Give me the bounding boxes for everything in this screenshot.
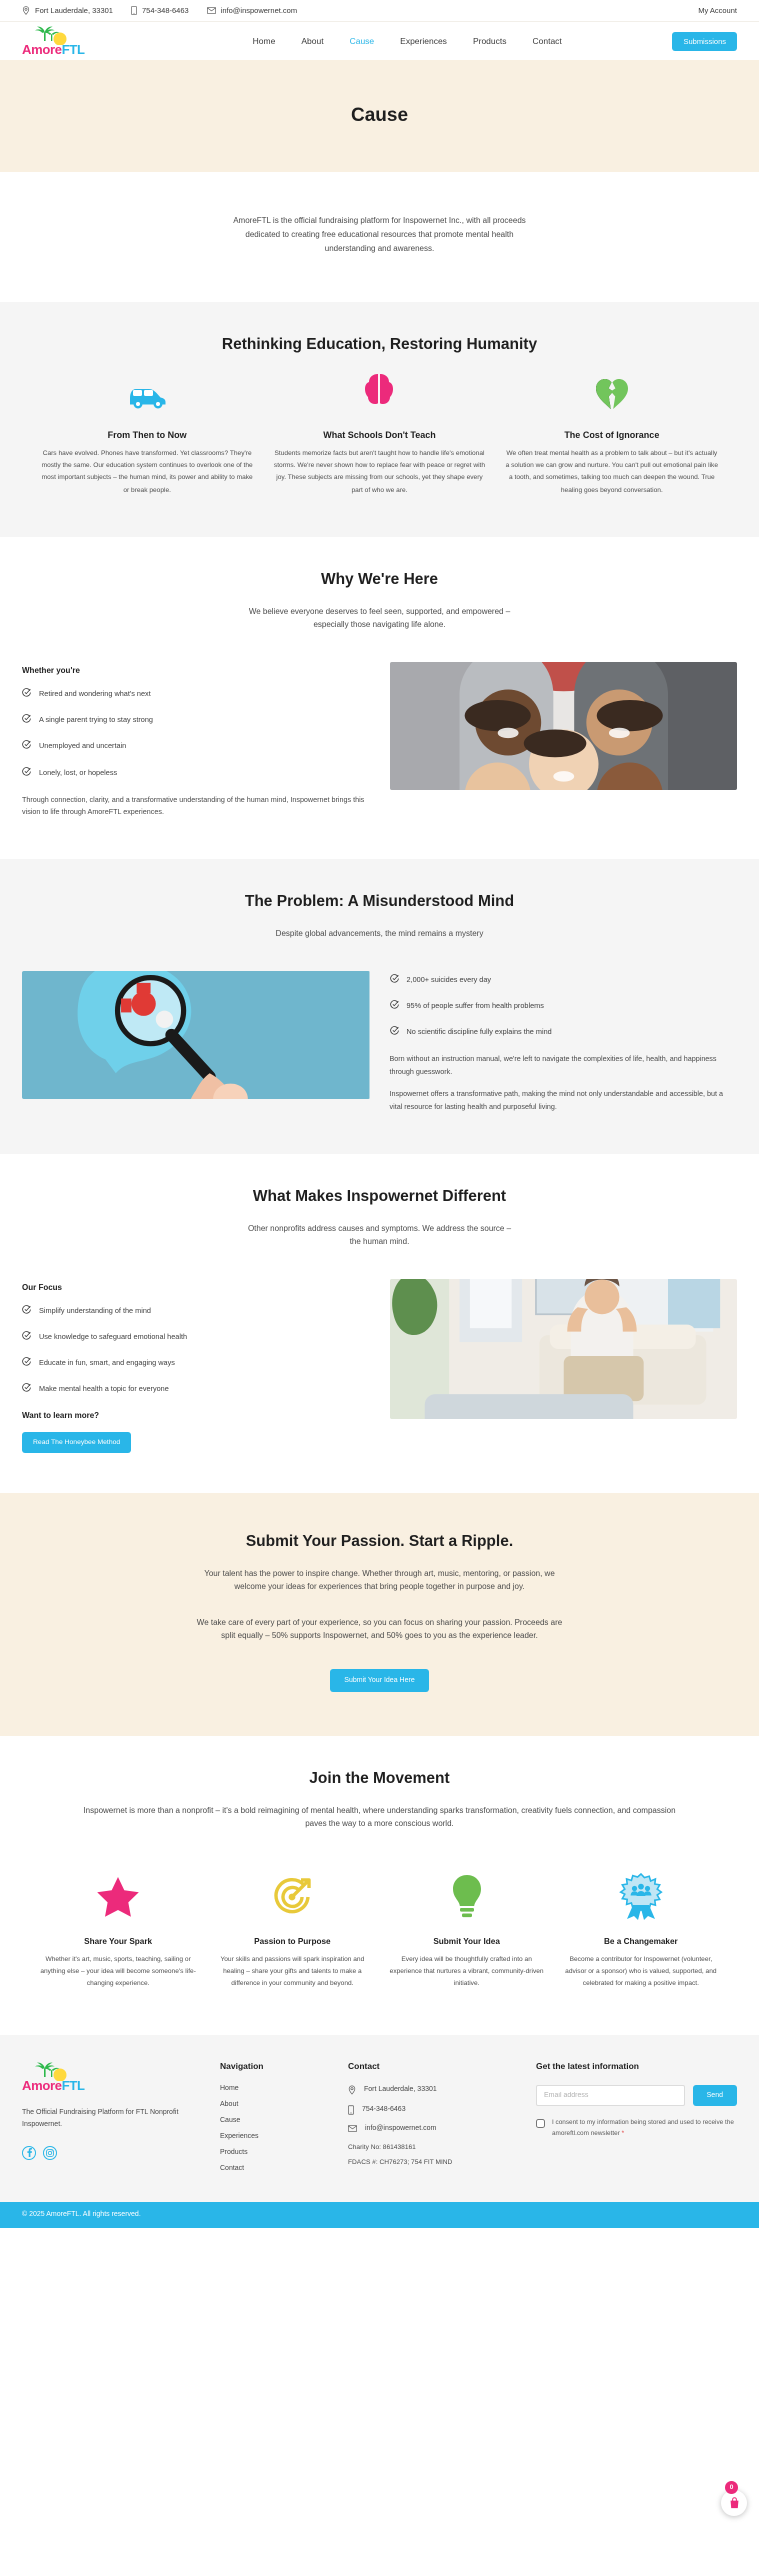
topbar-email[interactable]: info@inspowernet.com	[207, 6, 297, 15]
envelope-icon	[348, 2125, 357, 2132]
list-item: Use knowledge to safeguard emotional hea…	[22, 1332, 370, 1342]
list-item-label: Make mental health a topic for everyone	[39, 1384, 169, 1394]
check-circle-icon	[22, 740, 31, 749]
read-honeybee-method-button[interactable]: Read The Honeybee Method	[22, 1432, 131, 1453]
rethinking-title: Rethinking Education, Restoring Humanity	[22, 336, 737, 354]
instagram-icon[interactable]	[43, 2146, 57, 2160]
footer-logo[interactable]: AmoreFTL	[22, 2061, 142, 2093]
card-title: Passion to Purpose	[212, 1937, 372, 1946]
shopping-bag-icon	[729, 2497, 740, 2509]
footer-fdacs: FDACS #: CH76273; 754 FIT MIND	[348, 2157, 518, 2168]
site-footer: AmoreFTL The Official Fundraising Platfo…	[0, 2035, 759, 2202]
submit-your-idea-button[interactable]: Submit Your Idea Here	[330, 1669, 428, 1692]
why-subhead: Whether you're	[22, 666, 370, 675]
problem-lead: Despite global advancements, the mind re…	[80, 927, 680, 941]
footer-newsletter-column: Get the latest information Send I consen…	[536, 2061, 737, 2172]
phone-icon	[348, 2105, 354, 2115]
footer-email-text: info@inspowernet.com	[365, 2125, 436, 2132]
location-pin-icon	[348, 2085, 356, 2095]
list-item: Retired and wondering what's next	[22, 689, 370, 699]
footer-link-products[interactable]: Products	[220, 2149, 330, 2156]
man-on-sofa-photo	[390, 1279, 738, 1419]
footer-link-about[interactable]: About	[220, 2101, 330, 2108]
check-circle-icon	[22, 714, 31, 723]
passion-section: Submit Your Passion. Start a Ripple. You…	[0, 1493, 759, 1736]
list-item: Simplify understanding of the mind	[22, 1306, 370, 1316]
topbar-location: Fort Lauderdale, 33301	[22, 6, 113, 15]
check-circle-icon	[22, 1383, 31, 1392]
consent-checkbox[interactable]	[536, 2119, 545, 2128]
our-focus-subhead: Our Focus	[22, 1283, 370, 1292]
broken-heart-icon	[505, 370, 719, 416]
list-item-label: Unemployed and uncertain	[39, 741, 126, 751]
location-pin-icon	[22, 6, 30, 15]
list-item: A single parent trying to stay strong	[22, 715, 370, 725]
cart-fab-button[interactable]: 0	[721, 2490, 747, 2516]
list-item: Make mental health a topic for everyone	[22, 1384, 370, 1394]
nav-item-home[interactable]: Home	[253, 36, 276, 46]
problem-text-column: 2,000+ suicides every day 95% of people …	[390, 971, 738, 1114]
nav-item-cause[interactable]: Cause	[350, 36, 375, 46]
problem-stats-list: 2,000+ suicides every day 95% of people …	[390, 975, 738, 1038]
site-logo[interactable]: AmoreFTL	[22, 25, 142, 57]
check-circle-icon	[390, 974, 399, 983]
footer-link-experiences[interactable]: Experiences	[220, 2133, 330, 2140]
footer-contact-title: Contact	[348, 2061, 518, 2071]
card-title: The Cost of Ignorance	[505, 430, 719, 440]
page-title: Cause	[351, 105, 408, 127]
footer-phone-text: 754-348-6463	[362, 2106, 406, 2113]
check-circle-icon	[22, 688, 31, 697]
submissions-button[interactable]: Submissions	[672, 32, 737, 51]
list-item: 2,000+ suicides every day	[390, 975, 738, 985]
different-text-column: Our Focus Simplify understanding of the …	[22, 1279, 370, 1453]
footer-nav-links: Home About Cause Experiences Products Co…	[220, 2085, 330, 2172]
card-passion-to-purpose: Passion to Purpose Your skills and passi…	[212, 1871, 372, 1991]
footer-charity-no: Charity No: 861438161	[348, 2142, 518, 2153]
friends-circle-photo	[390, 662, 738, 790]
footer-newsletter-title: Get the latest information	[536, 2061, 737, 2071]
consent-row: I consent to my information being stored…	[536, 2118, 737, 2140]
list-item: No scientific discipline fully explains …	[390, 1027, 738, 1037]
problem-split: 2,000+ suicides every day 95% of people …	[22, 971, 737, 1114]
footer-location: Fort Lauderdale, 33301	[348, 2085, 518, 2095]
different-section: What Makes Inspowernet Different Other n…	[0, 1154, 759, 1493]
why-section: Why We're Here We believe everyone deser…	[0, 537, 759, 859]
different-split: Our Focus Simplify understanding of the …	[22, 1279, 737, 1453]
required-mark: *	[622, 2130, 625, 2137]
phone-icon	[131, 6, 137, 15]
topbar-phone[interactable]: 754-348-6463	[131, 6, 189, 15]
check-circle-icon	[390, 1000, 399, 1009]
footer-nav-title: Navigation	[220, 2061, 330, 2071]
send-button[interactable]: Send	[693, 2085, 737, 2106]
palm-tree-sun-logo-icon	[22, 25, 78, 45]
lightbulb-icon	[387, 1871, 547, 1923]
card-share-your-spark: Share Your Spark Whether it's art, music…	[38, 1871, 198, 1991]
why-image-column	[390, 662, 738, 790]
card-body: Cars have evolved. Phones have transform…	[40, 448, 254, 497]
envelope-icon	[207, 7, 216, 14]
topbar-location-text: Fort Lauderdale, 33301	[35, 6, 113, 15]
star-icon	[38, 1871, 198, 1923]
footer-contact-column: Contact Fort Lauderdale, 33301 754-348-6…	[348, 2061, 518, 2172]
palm-tree-sun-logo-icon	[22, 2061, 78, 2081]
footer-link-home[interactable]: Home	[220, 2085, 330, 2092]
problem-paragraph-2: Inspowernet offers a transformative path…	[390, 1088, 738, 1113]
intro-paragraph: AmoreFTL is the official fundraising pla…	[230, 214, 530, 256]
problem-paragraph-1: Born without an instruction manual, we'r…	[390, 1053, 738, 1078]
why-split: Whether you're Retired and wondering wha…	[22, 662, 737, 819]
card-body: Become a contributor for Inspowernet (vo…	[561, 1954, 721, 1991]
card-body: Every idea will be thoughtfully crafted …	[387, 1954, 547, 1991]
list-item: Lonely, lost, or hopeless	[22, 768, 370, 778]
card-title: Be a Changemaker	[561, 1937, 721, 1946]
list-item-label: Educate in fun, smart, and engaging ways	[39, 1358, 175, 1368]
consent-text: I consent to my information being stored…	[552, 2119, 734, 2137]
check-circle-icon	[22, 1357, 31, 1366]
focus-list: Simplify understanding of the mind Use k…	[22, 1306, 370, 1395]
list-item-label: No scientific discipline fully explains …	[407, 1027, 552, 1037]
main-navbar: AmoreFTL Home About Cause Experiences Pr…	[0, 22, 759, 60]
footer-location-text: Fort Lauderdale, 33301	[364, 2086, 437, 2093]
primary-nav: Home About Cause Experiences Products Co…	[142, 36, 672, 46]
card-submit-your-idea: Submit Your Idea Every idea will be thou…	[387, 1871, 547, 1991]
problem-section: The Problem: A Misunderstood Mind Despit…	[0, 859, 759, 1154]
why-title: Why We're Here	[22, 571, 737, 589]
topbar-email-text: info@inspowernet.com	[221, 6, 297, 15]
utility-topbar: Fort Lauderdale, 33301 754-348-6463 info…	[0, 0, 759, 22]
footer-phone[interactable]: 754-348-6463	[348, 2105, 518, 2115]
nav-item-products[interactable]: Products	[473, 36, 507, 46]
copyright-bar: © 2025 AmoreFTL. All rights reserved.	[0, 2202, 759, 2228]
passion-paragraph-2: We take care of every part of your exper…	[195, 1616, 565, 1643]
card-body: Students memorize facts but aren't taugh…	[272, 448, 486, 497]
rethinking-section: Rethinking Education, Restoring Humanity…	[0, 302, 759, 537]
brain-icon	[272, 370, 486, 416]
list-item-label: Lonely, lost, or hopeless	[39, 768, 117, 778]
list-item-label: 2,000+ suicides every day	[407, 975, 492, 985]
list-item-label: 95% of people suffer from health problem…	[407, 1001, 544, 1011]
footer-socials	[22, 2146, 202, 2160]
different-lead: Other nonprofits address causes and symp…	[245, 1222, 515, 1249]
email-input[interactable]	[536, 2085, 685, 2106]
different-title: What Makes Inspowernet Different	[22, 1188, 737, 1206]
magnifier-brain-photo	[22, 971, 370, 1099]
facebook-icon[interactable]	[22, 2146, 36, 2160]
movement-section: Join the Movement Inspowernet is more th…	[0, 1736, 759, 2035]
passion-title: Submit Your Passion. Start a Ripple.	[22, 1533, 737, 1551]
movement-lead: Inspowernet is more than a nonprofit – i…	[80, 1804, 680, 1831]
nav-item-experiences[interactable]: Experiences	[400, 36, 447, 46]
learn-more-subhead: Want to learn more?	[22, 1411, 370, 1420]
cart-count-badge: 0	[725, 2481, 738, 2494]
copyright-text: © 2025 AmoreFTL. All rights reserved.	[22, 2211, 141, 2218]
consent-label[interactable]: I consent to my information being stored…	[552, 2118, 737, 2140]
footer-brand-column: AmoreFTL The Official Fundraising Platfo…	[22, 2061, 202, 2172]
card-from-then-to-now: From Then to Now Cars have evolved. Phon…	[40, 370, 254, 497]
card-what-schools-dont-teach: What Schools Don't Teach Students memori…	[272, 370, 486, 497]
nav-item-about[interactable]: About	[301, 36, 323, 46]
card-title: What Schools Don't Teach	[272, 430, 486, 440]
list-item-label: Use knowledge to safeguard emotional hea…	[39, 1332, 187, 1342]
car-icon	[40, 370, 254, 416]
why-checklist: Retired and wondering what's next A sing…	[22, 689, 370, 778]
list-item: Educate in fun, smart, and engaging ways	[22, 1358, 370, 1368]
card-be-a-changemaker: Be a Changemaker Become a contributor fo…	[561, 1871, 721, 1991]
why-text-column: Whether you're Retired and wondering wha…	[22, 662, 370, 819]
different-image-column	[390, 1279, 738, 1419]
problem-image-column	[22, 971, 370, 1099]
check-circle-icon	[22, 1305, 31, 1314]
card-title: From Then to Now	[40, 430, 254, 440]
intro-section: AmoreFTL is the official fundraising pla…	[0, 172, 759, 302]
card-body: Whether it's art, music, sports, teachin…	[38, 1954, 198, 1991]
list-item-label: A single parent trying to stay strong	[39, 715, 153, 725]
target-arrow-icon	[212, 1871, 372, 1923]
footer-link-cause[interactable]: Cause	[220, 2117, 330, 2124]
my-account-link[interactable]: My Account	[698, 6, 737, 15]
movement-cards: Share Your Spark Whether it's art, music…	[22, 1861, 737, 1991]
list-item-label: Simplify understanding of the mind	[39, 1306, 151, 1316]
check-circle-icon	[22, 767, 31, 776]
page-hero: Cause	[0, 60, 759, 172]
movement-title: Join the Movement	[22, 1770, 737, 1788]
card-the-cost-of-ignorance: The Cost of Ignorance We often treat men…	[505, 370, 719, 497]
footer-nav-column: Navigation Home About Cause Experiences …	[220, 2061, 330, 2172]
check-circle-icon	[22, 1331, 31, 1340]
why-lead: We believe everyone deserves to feel see…	[245, 605, 515, 632]
card-body: We often treat mental health as a proble…	[505, 448, 719, 497]
footer-tagline: The Official Fundraising Platform for FT…	[22, 2107, 202, 2132]
check-circle-icon	[390, 1026, 399, 1035]
award-ribbon-icon	[561, 1871, 721, 1923]
card-body: Your skills and passions will spark insp…	[212, 1954, 372, 1991]
card-title: Share Your Spark	[38, 1937, 198, 1946]
topbar-phone-text: 754-348-6463	[142, 6, 189, 15]
card-title: Submit Your Idea	[387, 1937, 547, 1946]
footer-link-contact[interactable]: Contact	[220, 2165, 330, 2172]
passion-paragraph-1: Your talent has the power to inspire cha…	[200, 1567, 560, 1594]
nav-item-contact[interactable]: Contact	[532, 36, 561, 46]
newsletter-form: Send	[536, 2085, 737, 2106]
list-item: Unemployed and uncertain	[22, 741, 370, 751]
rethinking-cards: From Then to Now Cars have evolved. Phon…	[22, 370, 737, 497]
problem-title: The Problem: A Misunderstood Mind	[22, 893, 737, 911]
why-closing-paragraph: Through connection, clarity, and a trans…	[22, 794, 370, 819]
list-item: 95% of people suffer from health problem…	[390, 1001, 738, 1011]
list-item-label: Retired and wondering what's next	[39, 689, 151, 699]
footer-email[interactable]: info@inspowernet.com	[348, 2125, 518, 2132]
